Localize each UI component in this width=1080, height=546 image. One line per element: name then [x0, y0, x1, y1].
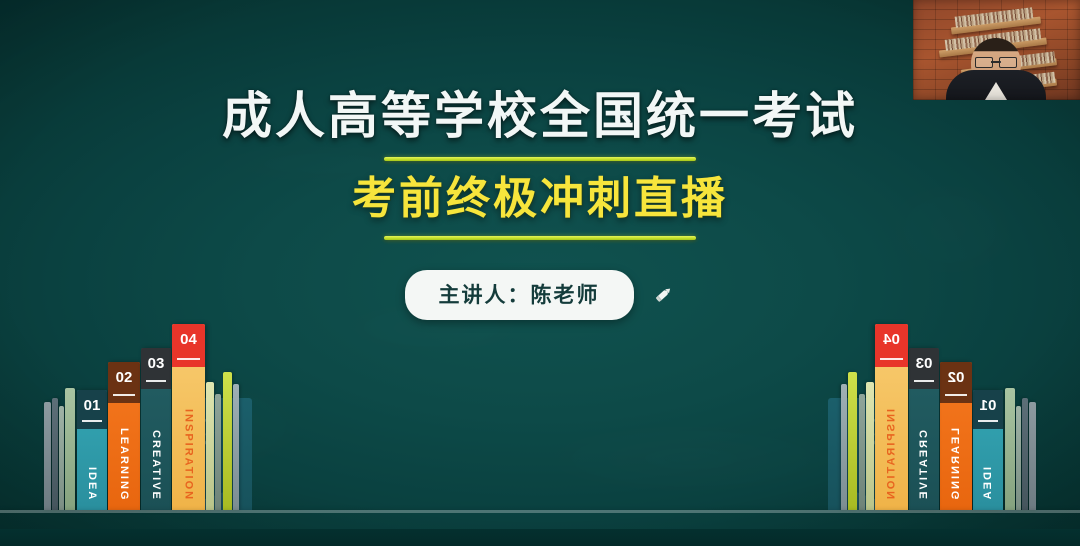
thin-book	[1016, 406, 1021, 510]
book-label: INSPIRATION	[172, 409, 205, 501]
book-04: 04 INSPIRATION	[875, 324, 908, 510]
book-04: 04 INSPIRATION	[172, 324, 205, 510]
book-label: IDEA	[77, 467, 107, 501]
book-cap-rule	[82, 420, 102, 422]
title-block: 成人高等学校全国统一考试 考前终极冲刺直播	[0, 88, 1080, 240]
thin-book	[841, 384, 847, 510]
page-subtitle: 考前终极冲刺直播	[0, 174, 1080, 223]
presenter-row: 主讲人：陈老师	[0, 270, 1080, 320]
book-cap-rule	[146, 380, 166, 382]
presenter-badge: 主讲人：陈老师	[405, 270, 634, 320]
pencil-icon[interactable]	[650, 282, 676, 308]
thin-book	[52, 398, 58, 510]
book-label: CREATIVE	[141, 430, 171, 501]
pip-glasses-icon	[975, 57, 1017, 66]
webcam-pip[interactable]	[913, 0, 1080, 100]
live-stream-slide: 成人高等学校全国统一考试 考前终极冲刺直播 主讲人：陈老师 'SINCAT	[0, 0, 1080, 546]
title-underline-top	[384, 157, 696, 161]
book-cap-rule	[113, 394, 135, 396]
book-label: IDEA	[973, 467, 1003, 501]
book-number: 03	[909, 348, 939, 389]
book-03: 03 CREATIVE	[909, 348, 939, 510]
book-cap-rule	[945, 394, 967, 396]
book-03: 03 CREATIVE	[141, 348, 171, 510]
thin-book	[65, 388, 75, 510]
book-label: LEARNING	[108, 428, 140, 501]
thin-book	[1029, 402, 1036, 510]
book-number: 04	[172, 324, 205, 367]
title-underline-bottom	[384, 236, 696, 240]
thin-book	[215, 394, 221, 510]
thin-book	[233, 384, 239, 510]
book-cap-rule	[880, 358, 903, 360]
book-label: CREATIVE	[909, 430, 939, 501]
book-01: 01 IDEA	[77, 390, 107, 510]
thin-book	[59, 406, 64, 510]
book-label: INSPIRATION	[875, 409, 908, 501]
book-number: 01	[973, 390, 1003, 429]
book-02: 02 LEARNING	[940, 362, 972, 510]
book-cap-rule	[177, 358, 200, 360]
below-shelf-area	[0, 529, 1080, 546]
book-number: 02	[108, 362, 140, 403]
shelf-highlight	[0, 510, 1080, 513]
book-01: 01 IDEA	[973, 390, 1003, 510]
book-number: 01	[77, 390, 107, 429]
thin-book	[206, 382, 214, 510]
book-label: LEARNING	[940, 428, 972, 501]
thin-book	[859, 394, 865, 510]
book-number: 02	[940, 362, 972, 403]
thin-book	[1022, 398, 1028, 510]
thin-book	[223, 372, 232, 510]
book-number: 03	[141, 348, 171, 389]
book-cap-rule	[914, 380, 934, 382]
book-cap-rule	[978, 420, 998, 422]
thin-book	[1005, 388, 1015, 510]
thin-book	[44, 402, 51, 510]
book-number: 04	[875, 324, 908, 367]
thin-book	[866, 382, 874, 510]
thin-book	[848, 372, 857, 510]
book-02: 02 LEARNING	[108, 362, 140, 510]
